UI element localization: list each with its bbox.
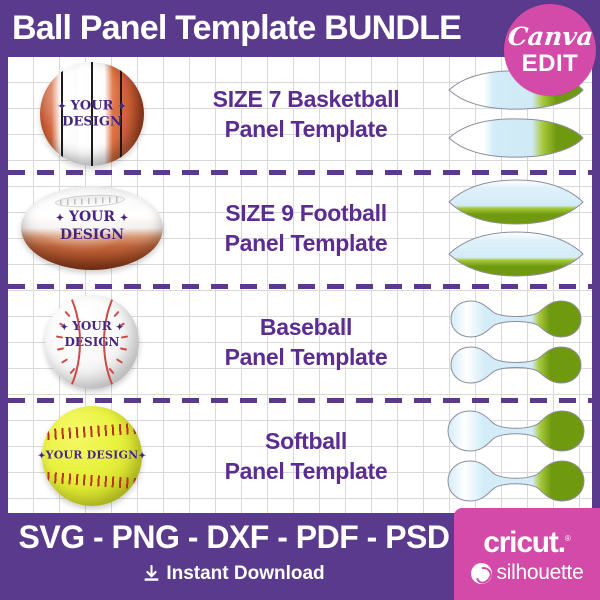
registered-mark: ® [565,534,571,543]
label-softball: Softball Panel Template [172,399,440,513]
label-basketball: SIZE 7 Basketball Panel Template [172,57,440,171]
panel-shape-peanut-large [446,459,586,503]
template-preview-baseball [440,285,592,399]
label-line-2: Panel Template [225,228,388,258]
panel-shape-lens-wide [446,179,586,225]
row-divider [8,284,592,289]
row-divider [8,398,592,403]
product-row: ✦YOUR DESIGN✦ Softball Panel Template [8,399,592,513]
panel-shape-peanut [449,345,583,385]
label-line-1: SIZE 9 Football [225,198,387,228]
baseball-graphic [45,295,139,389]
left-border-strip [0,57,8,513]
label-line-1: SIZE 7 Basketball [213,84,400,114]
template-preview-softball [440,399,592,513]
stitch-seam [42,471,142,489]
label-football: SIZE 9 Football Panel Template [172,171,440,285]
laces-icon [55,193,126,209]
stitch-seam [45,295,81,389]
label-baseball: Baseball Panel Template [172,285,440,399]
footer-bar: SVG - PNG - DXF - PDF - PSD Instant Down… [0,513,600,600]
poster-canvas: ✦ YOUR ✦ DESIGN SIZE 7 Basketball Panel … [0,0,600,600]
page-title: Ball Panel Template BUNDLE [12,6,502,50]
canva-edit-label: EDIT [522,51,579,77]
silhouette-text: silhouette [497,562,584,584]
stitch-seam [42,422,142,440]
silhouette-swirl-icon [471,563,492,584]
seam-line [61,62,63,166]
panel-shape-lens-wide [446,231,586,277]
panel-shape-lens-narrow [446,117,586,159]
ball-image-softball: ✦YOUR DESIGN✦ [12,399,172,513]
panel-shape-peanut [449,299,583,339]
basketball-graphic [40,62,144,166]
football-graphic [21,186,163,270]
label-line-1: Softball [265,426,347,456]
ball-image-baseball: ✦ YOUR ✦ DESIGN [12,285,172,399]
label-line-1: Baseball [260,312,352,342]
grid-background: ✦ YOUR ✦ DESIGN SIZE 7 Basketball Panel … [8,57,592,513]
product-row: ✦ YOUR ✦ DESIGN SIZE 7 Basketball Panel … [8,57,592,171]
canva-wordmark: Canva [506,24,594,50]
ball-image-basketball: ✦ YOUR ✦ DESIGN [12,57,172,171]
cricut-text: cricut [483,526,558,559]
stitch-seam [103,295,139,389]
softball-graphic [42,406,142,506]
seam-line [120,62,122,166]
canva-edit-badge[interactable]: Canva EDIT [504,4,596,96]
silhouette-logo: silhouette [471,562,584,584]
template-preview-football [440,171,592,285]
right-border-strip [592,57,600,513]
product-row: ✦ YOUR ✦ DESIGN SIZE 9 Football Panel Te… [8,171,592,285]
label-line-2: Panel Template [225,342,388,372]
label-line-2: Panel Template [225,456,388,486]
cricut-logo: cricut.® [483,524,571,558]
download-icon [143,565,160,583]
ball-image-football: ✦ YOUR ✦ DESIGN [12,171,172,285]
compatible-brands-panel: cricut.® silhouette [454,508,600,600]
product-row: ✦ YOUR ✦ DESIGN Baseball Panel Template [8,285,592,399]
file-formats-label: SVG - PNG - DXF - PDF - PSD [14,519,454,556]
instant-download-label: Instant Download [166,563,324,585]
panel-shape-peanut-large [446,409,586,453]
instant-download-row: Instant Download [14,563,454,585]
row-divider [8,170,592,175]
seam-line [91,62,93,166]
label-line-2: Panel Template [225,114,388,144]
